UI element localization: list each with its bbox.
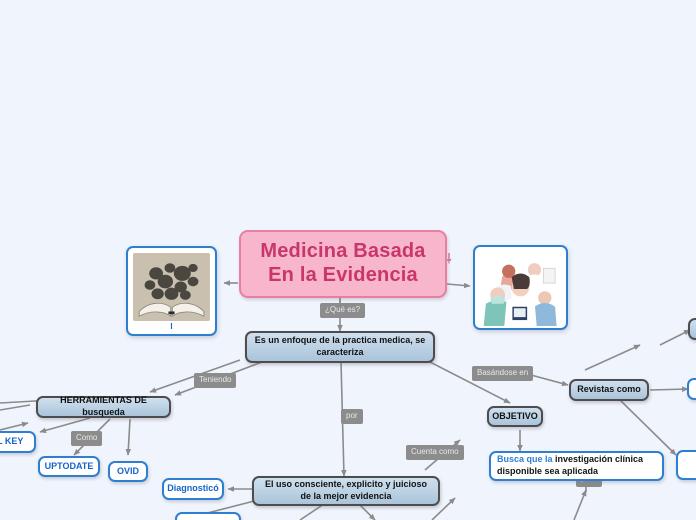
book-science-icon bbox=[133, 253, 210, 321]
node-right-cutoff-bottom[interactable] bbox=[676, 450, 696, 480]
node-objetivo[interactable]: OBJETIVO bbox=[487, 406, 543, 427]
root-title-line2: En la Evidencia bbox=[268, 264, 418, 286]
image-node-book[interactable]: I bbox=[126, 246, 217, 336]
pin-icon bbox=[444, 252, 454, 264]
root-node[interactable]: Medicina Basada En la Evidencia bbox=[239, 230, 447, 298]
busca-lead: Busca que la bbox=[497, 454, 555, 464]
node-clinical-key[interactable]: AL KEY bbox=[0, 431, 36, 453]
node-diagnostico[interactable]: Diagnosticó bbox=[162, 478, 224, 500]
node-right-cutoff-top[interactable] bbox=[687, 378, 696, 400]
edge-label-como: Como bbox=[71, 431, 102, 446]
node-ovid[interactable]: OVID bbox=[108, 461, 148, 482]
node-definicion[interactable]: Es un enfoque de la practica medica, se … bbox=[245, 331, 435, 363]
node-herramientas-busqueda[interactable]: HERRAMIENTAS DE busqueda bbox=[36, 396, 171, 418]
image-node-caption: I bbox=[170, 321, 172, 332]
edge-label-por: por bbox=[341, 409, 363, 424]
mindmap-canvas[interactable]: I Medicina Basada En la Evidencia bbox=[0, 0, 696, 520]
node-uso-consciente[interactable]: El uso consciente, explicito y juicioso … bbox=[252, 476, 440, 506]
edge-label-cuenta-como: Cuenta como bbox=[406, 445, 464, 460]
node-revistas-como[interactable]: Revistas como bbox=[569, 379, 649, 401]
image-node-team[interactable] bbox=[473, 245, 568, 330]
edge-label-basandose-en: Basándose en bbox=[472, 366, 533, 381]
node-uptodate[interactable]: UPTODATE bbox=[38, 456, 100, 477]
edge-label-teniendo: Teniendo bbox=[194, 373, 236, 388]
node-busca-investigacion[interactable]: Busca que la investigación clínica dispo… bbox=[489, 451, 664, 481]
medical-team-icon bbox=[480, 252, 561, 326]
node-bottom-cutoff[interactable] bbox=[175, 512, 241, 520]
node-right-cutoff-upper[interactable] bbox=[688, 318, 696, 340]
edge-label-que-es: ¿Qué es? bbox=[320, 303, 365, 318]
root-title-line1: Medicina Basada bbox=[260, 240, 425, 262]
